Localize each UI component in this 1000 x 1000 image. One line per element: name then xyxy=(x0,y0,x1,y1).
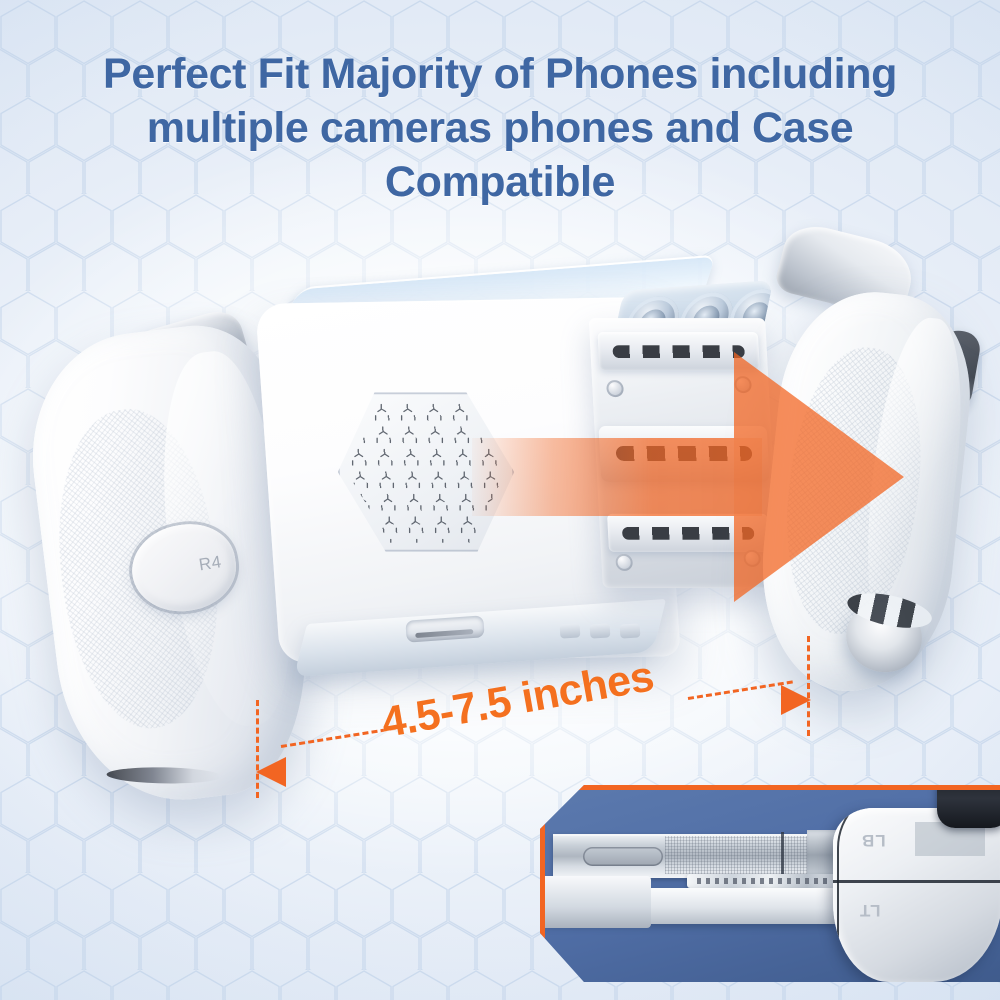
lip-notch-1 xyxy=(560,623,581,638)
expansion-arrow-tail xyxy=(472,438,762,516)
lt-button-label: LT xyxy=(859,900,881,920)
measurement-guide-line-right xyxy=(807,636,810,736)
inset-left-grip: LB LT xyxy=(833,808,1000,982)
product-marketing-image: Perfect Fit Majority of Phones including… xyxy=(0,0,1000,1000)
measurement-guide-line-left xyxy=(256,700,259,798)
inset-phone-seam xyxy=(781,832,784,880)
lip-notch-3 xyxy=(620,623,641,638)
inset-rail-step xyxy=(545,876,651,928)
expansion-arrow-head xyxy=(734,352,904,602)
inset-thumbstick-cap xyxy=(929,785,1000,786)
r4-button-label: R4 xyxy=(198,552,224,575)
lip-notch-2 xyxy=(590,623,611,638)
inset-thumbstick xyxy=(937,785,1000,828)
detail-photo-inset: LB LT xyxy=(540,785,1000,982)
lb-button-label: LB xyxy=(861,830,886,850)
inset-grip-divider xyxy=(833,880,1000,883)
inset-connector xyxy=(687,874,837,888)
left-grip-bottom-edge xyxy=(106,767,221,785)
expansion-arrow xyxy=(472,352,902,602)
